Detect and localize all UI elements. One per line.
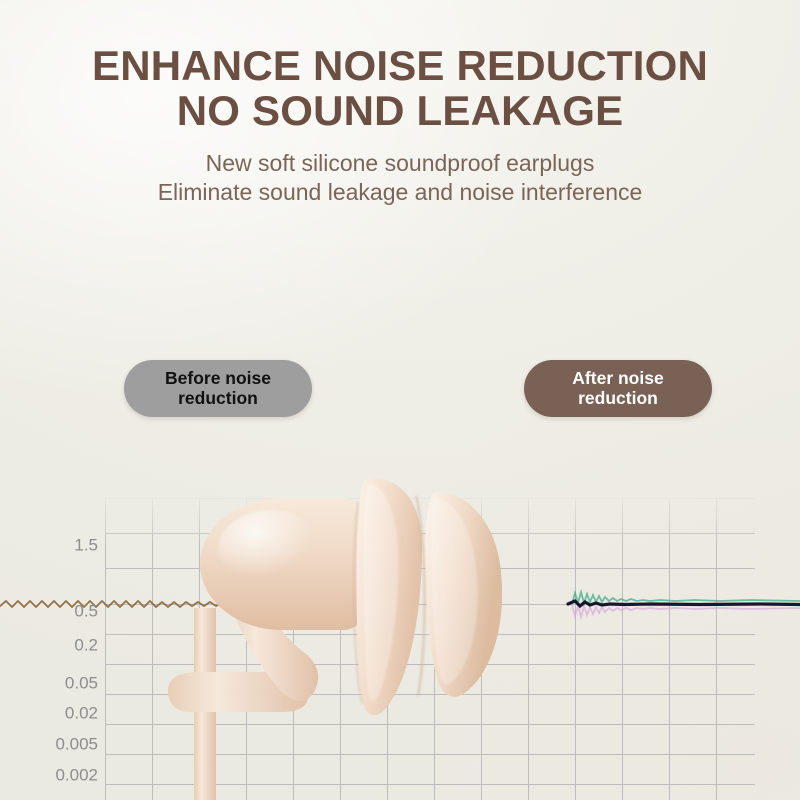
headline-line-1: ENHANCE NOISE REDUCTION — [92, 42, 708, 89]
page-title: ENHANCE NOISE REDUCTION NO SOUND LEAKAGE — [0, 44, 800, 133]
badge-after-text: After noise reduction — [572, 369, 663, 408]
page-subtitle: New soft silicone soundproof earplugs El… — [0, 149, 800, 207]
badge-before-noise-reduction[interactable]: Before noise reduction — [124, 360, 312, 417]
badge-after-noise-reduction[interactable]: After noise reduction — [524, 360, 712, 417]
earplug-product-image — [150, 440, 610, 800]
subhead-line-1: New soft silicone soundproof earplugs — [206, 150, 595, 176]
badge-before-text: Before noise reduction — [165, 369, 271, 408]
headline-line-2: NO SOUND LEAKAGE — [0, 89, 800, 134]
subhead-line-2: Eliminate sound leakage and noise interf… — [0, 178, 800, 207]
header: ENHANCE NOISE REDUCTION NO SOUND LEAKAGE… — [0, 44, 800, 207]
promo-image: 1.5 0.5 0.2 0.05 0.02 0.005 0.002 — [0, 0, 800, 800]
